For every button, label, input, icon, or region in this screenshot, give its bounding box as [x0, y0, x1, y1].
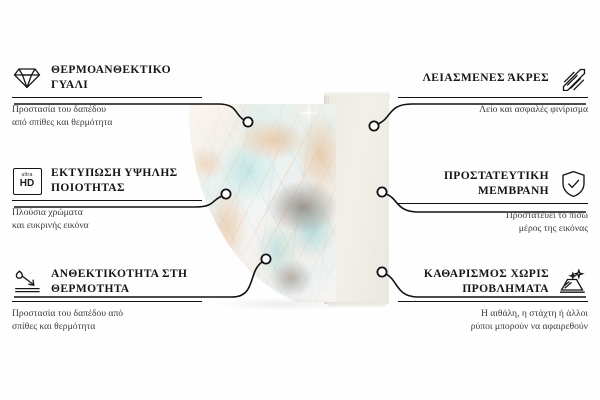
feature-description: Προστασία του δαπέδου από σπίθες και θερ…: [12, 307, 202, 333]
feature-description: Πλούσια χρώματα και ευκρινής εικόνα: [12, 206, 202, 232]
feature-title: ΛΕΙΑΣΜΕΝΕΣ ΆΚΡΕΣ: [423, 71, 549, 86]
feature-divider: [398, 203, 588, 204]
feature-description: Λείο και ασφαλές φινίρισμα: [398, 103, 588, 116]
feature-divider: [12, 301, 202, 302]
feature-title: ΑΝΘΕΚΤΙΚΟΤΗΤΑ ΣΤΗ ΘΕΡΜΟΤΗΤΑ: [51, 267, 202, 296]
ultra-hd-icon: ultra HD: [12, 166, 42, 196]
feature-heat-durability: ΑΝΘΕΚΤΙΚΟΤΗΤΑ ΣΤΗ ΘΕΡΜΟΤΗΤΑ Προστασία το…: [12, 266, 202, 333]
feature-divider: [398, 301, 588, 302]
flame-heat-resistance-icon: [12, 267, 42, 297]
feature-divider: [398, 97, 588, 98]
glass-sparkle-icon: [296, 100, 322, 126]
infographic-canvas: ΘΕΡΜΟΑΝΘΕΚΤΙΚΟ ΓΥΑΛΙ Προστασία του δαπέδ…: [0, 0, 600, 400]
feature-description: Η αιθάλη, η στάχτη ή άλλοι ρύποι μπορούν…: [398, 307, 588, 333]
feature-header: ultra HD ΕΚΤΥΠΩΣΗ ΥΨΗΛΗΣ ΠΟΙΟΤΗΤΑΣ: [12, 165, 202, 197]
feature-header: ΠΡΟΣΤΑΤΕΥΤΙΚΗ ΜΕΜΒΡΑΝΗ: [398, 168, 588, 200]
feature-title: ΚΑΘΑΡΙΣΜΟΣ ΧΩΡΙΣ ΠΡΟΒΛΗΜΑΤΑ: [398, 267, 549, 296]
feature-header: ΑΝΘΕΚΤΙΚΟΤΗΤΑ ΣΤΗ ΘΕΡΜΟΤΗΤΑ: [12, 266, 202, 298]
feature-heat-resistant-glass: ΘΕΡΜΟΑΝΘΕΚΤΙΚΟ ΓΥΑΛΙ Προστασία του δαπέδ…: [12, 62, 202, 129]
product-photo: [168, 88, 404, 324]
printed-glass-panel: [188, 104, 336, 302]
feature-header: ΘΕΡΜΟΑΝΘΕΚΤΙΚΟ ΓΥΑΛΙ: [12, 62, 202, 94]
feature-divider: [12, 200, 202, 201]
shield-check-icon: [558, 169, 588, 199]
diamond-icon: [12, 63, 42, 93]
feature-title: ΠΡΟΣΤΑΤΕΥΤΙΚΗ ΜΕΜΒΡΑΝΗ: [398, 169, 549, 198]
polished-edges-icon: [558, 63, 588, 93]
glass-reflection-overlay: [188, 104, 336, 302]
feature-high-quality-print: ultra HD ΕΚΤΥΠΩΣΗ ΥΨΗΛΗΣ ΠΟΙΟΤΗΤΑΣ Πλούσ…: [12, 165, 202, 232]
feature-header: ΛΕΙΑΣΜΕΝΕΣ ΆΚΡΕΣ: [398, 62, 588, 94]
feature-easy-cleaning: ΚΑΘΑΡΙΣΜΟΣ ΧΩΡΙΣ ΠΡΟΒΛΗΜΑΤΑ Η αιθάλη, η …: [398, 266, 588, 333]
feature-description: Προστασία του δαπέδου από σπίθες και θερ…: [12, 103, 202, 129]
feature-polished-edges: ΛΕΙΑΣΜΕΝΕΣ ΆΚΡΕΣ Λείο και ασφαλές φινίρι…: [398, 62, 588, 116]
feature-header: ΚΑΘΑΡΙΣΜΟΣ ΧΩΡΙΣ ΠΡΟΒΛΗΜΑΤΑ: [398, 266, 588, 298]
feature-description: Προστατεύει το πίσω μέρος της εικόνας: [398, 209, 588, 235]
product-shadow: [186, 294, 382, 314]
easy-clean-sponge-icon: [558, 267, 588, 297]
feature-title: ΕΚΤΥΠΩΣΗ ΥΨΗΛΗΣ ΠΟΙΟΤΗΤΑΣ: [51, 166, 202, 195]
feature-divider: [12, 97, 202, 98]
feature-protective-membrane: ΠΡΟΣΤΑΤΕΥΤΙΚΗ ΜΕΜΒΡΑΝΗ Προστατεύει το πί…: [398, 168, 588, 235]
feature-title: ΘΕΡΜΟΑΝΘΕΚΤΙΚΟ ΓΥΑΛΙ: [51, 63, 202, 92]
back-board: [328, 96, 389, 304]
